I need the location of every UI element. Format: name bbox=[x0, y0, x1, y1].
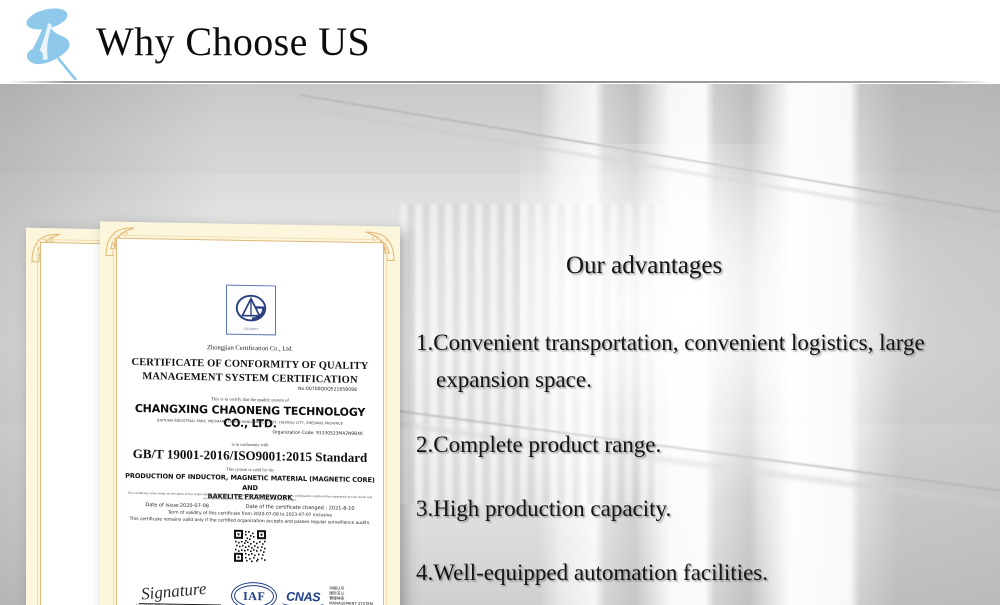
certification-body-logo-icon: ISO/NET bbox=[226, 285, 276, 336]
content-stage: 质量 上海认证有限公司 签名 公司代表 bbox=[0, 84, 1000, 605]
date-of-issue: Date of issue:2020-07-08 bbox=[145, 502, 209, 509]
qr-code-icon bbox=[233, 529, 267, 564]
page-header: Why Choose US bbox=[0, 0, 1000, 84]
certificate-number: No:00700Q0Q521658098 bbox=[298, 387, 357, 393]
advantage-3-text: High production capacity. bbox=[433, 496, 671, 521]
standard-name: GB/T 19001-2016/ISO9001:2015 Standard bbox=[117, 446, 383, 467]
organization-code: Organization Code: 91330523MA2N9BXK bbox=[273, 430, 364, 437]
advantage-1-number: 1. bbox=[416, 330, 433, 355]
iaf-logo-icon: IAF bbox=[231, 582, 277, 605]
advantages-list: 1.Convenient transportation, convenient … bbox=[416, 324, 988, 591]
cnas-logo-icon: CNAS bbox=[282, 585, 324, 605]
header-divider bbox=[8, 81, 992, 83]
certificate-issuer: Zhongjian Certification Co., Ltd. bbox=[117, 343, 383, 355]
pushpin-icon bbox=[18, 6, 88, 80]
advantage-3-number: 3. bbox=[416, 496, 433, 521]
certificate-front-english[interactable]: ISO/NET Zhongjian Certification Co., Ltd… bbox=[100, 221, 400, 605]
advantage-1-text: Convenient transportation, convenient lo… bbox=[433, 330, 924, 355]
page-root: Why Choose US bbox=[0, 0, 1000, 605]
advantage-item-1: 1.Convenient transportation, convenient … bbox=[416, 324, 988, 398]
accreditation-marks: IAF CNAS 中国认可 国际互认 管理体系 MANAGEMENT SYSTE… bbox=[131, 577, 373, 605]
advantage-2-number: 2. bbox=[416, 432, 433, 457]
logo-caption: ISO/NET bbox=[227, 327, 275, 332]
advantage-item-4: 4.Well-equipped automation facilities. bbox=[416, 554, 988, 591]
date-changed: Date of the certificate changed : 2021-8… bbox=[246, 504, 355, 512]
cnas-swoosh bbox=[282, 598, 324, 605]
certified-company-name: CHANGXING CHAONENG TECHNOLOGY CO., LTD. bbox=[125, 402, 375, 432]
advantages-heading: Our advantages bbox=[566, 252, 722, 280]
advantage-1-continuation: expansion space. bbox=[416, 361, 988, 398]
advantage-2-text: Complete product range. bbox=[433, 432, 661, 457]
advantage-item-3: 3.High production capacity. bbox=[416, 490, 988, 527]
certificate-front-inner: ISO/NET Zhongjian Certification Co., Ltd… bbox=[116, 238, 384, 605]
page-title: Why Choose US bbox=[96, 16, 370, 68]
advantage-4-number: 4. bbox=[416, 560, 433, 585]
cnas-description: 中国认可 国际互认 管理体系 MANAGEMENT SYSTEM CNAS C0… bbox=[329, 585, 373, 605]
certificate-title: CERTIFICATE OF CONFORMITY OF QUALITY MAN… bbox=[131, 356, 369, 387]
advantage-4-text: Well-equipped automation facilities. bbox=[433, 560, 768, 585]
iaf-ring bbox=[234, 585, 274, 605]
advantage-item-2: 2.Complete product range. bbox=[416, 426, 988, 463]
